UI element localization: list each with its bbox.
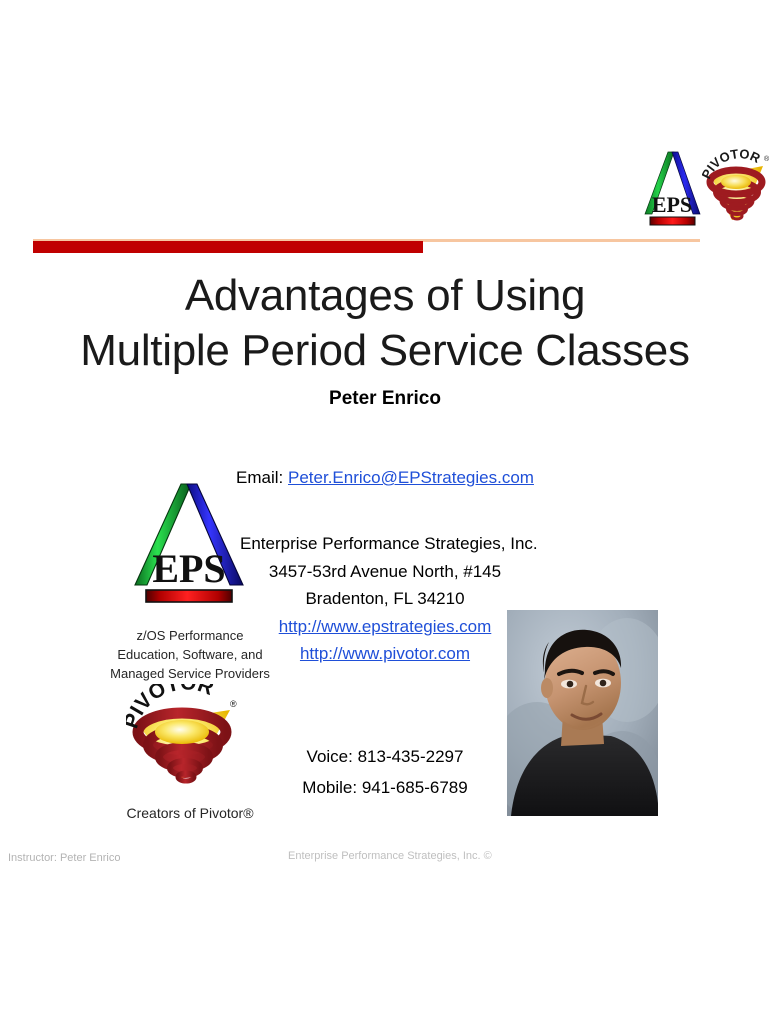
svg-text:EPS: EPS — [652, 192, 692, 217]
eps-caption-line-1: z/OS Performance — [95, 626, 285, 645]
city-state-zip: Bradenton, FL 34210 — [240, 585, 530, 613]
pivotor-logo-icon: PIVOTOR ® — [702, 142, 770, 232]
street-address: 3457-53rd Avenue North, #145 — [240, 558, 530, 586]
presenter-name: Peter Enrico — [0, 388, 770, 410]
header-divider — [0, 236, 770, 256]
eps-logo-caption: z/OS Performance Education, Software, an… — [95, 626, 285, 684]
registered-mark-icon: ® — [230, 699, 237, 709]
phone-block: Voice: 813-435-2297 Mobile: 941-685-6789 — [240, 741, 530, 804]
title-slide: EPS — [0, 0, 770, 1024]
title-line-2: Multiple Period Service Classes — [0, 323, 770, 378]
presenter-photo — [507, 610, 658, 816]
footer-instructor: Instructor: Peter Enrico — [8, 852, 121, 864]
email-link[interactable]: Peter.Enrico@EPStrategies.com — [288, 468, 534, 487]
eps-caption-line-3: Managed Service Providers — [95, 664, 285, 683]
svg-text:EPS: EPS — [152, 546, 225, 591]
header-logo-group: EPS — [636, 140, 770, 232]
eps-logo-icon: EPS — [642, 148, 704, 230]
footer-copyright: Enterprise Performance Strategies, Inc. … — [288, 850, 492, 862]
product-website-link[interactable]: http://www.pivotor.com — [300, 644, 470, 663]
divider-thick-bar — [33, 241, 423, 253]
company-website-link[interactable]: http://www.epstrategies.com — [279, 617, 492, 636]
page-title: Advantages of Using Multiple Period Serv… — [0, 268, 770, 410]
eps-logo-large-icon: EPS — [129, 478, 249, 613]
mobile-phone: Mobile: 941-685-6789 — [240, 772, 530, 803]
pivotor-logo-caption: Creators of Pivotor® — [95, 805, 285, 821]
company-name: Enterprise Performance Strategies, Inc. — [240, 530, 530, 558]
title-line-1: Advantages of Using — [0, 268, 770, 323]
eps-caption-line-2: Education, Software, and — [95, 645, 285, 664]
voice-phone: Voice: 813-435-2297 — [240, 741, 530, 772]
svg-text:®: ® — [764, 155, 770, 163]
email-row: Email: Peter.Enrico@EPStrategies.com — [0, 468, 770, 488]
pivotor-logo-large-icon: PIVOTOR ® — [126, 684, 242, 794]
